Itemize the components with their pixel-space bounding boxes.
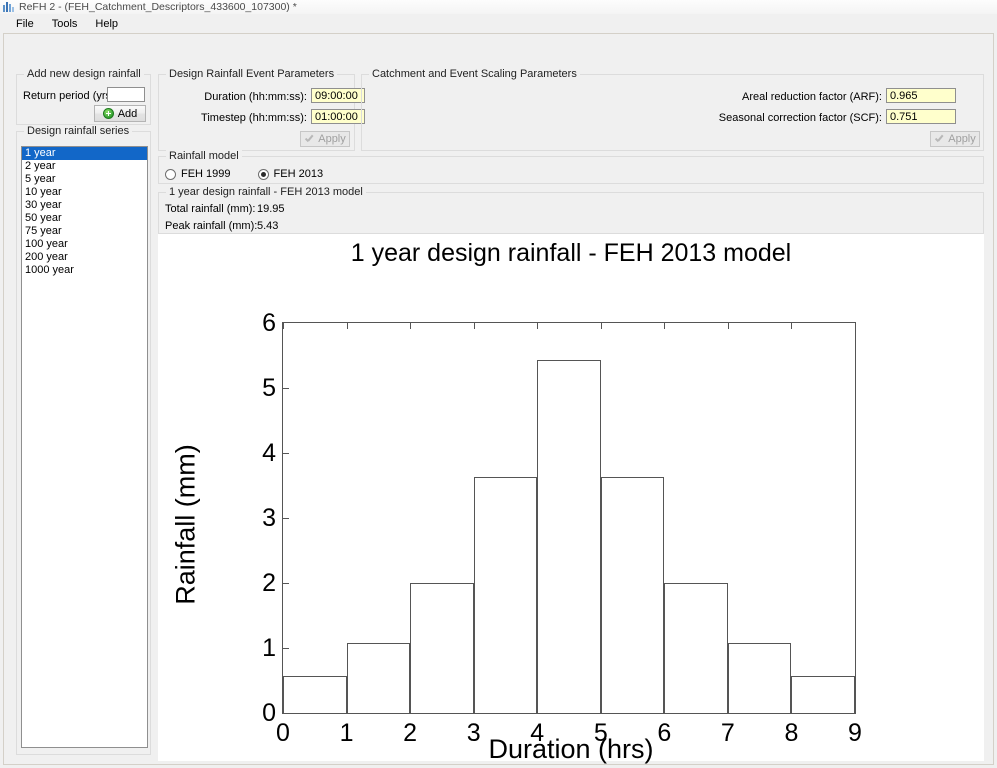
design-rainfall-series-list[interactable]: 1 year 2 year 5 year 10 year 30 year 50 …	[21, 146, 148, 748]
timestep-label: Timestep (hh:mm:ss):	[165, 112, 307, 124]
design-rainfall-series-group: Design rainfall series 1 year 2 year 5 y…	[16, 131, 151, 755]
chart-x-tick-mark	[474, 323, 475, 329]
return-period-label: Return period (yrs):	[23, 90, 118, 102]
rainfall-summary-group: 1 year design rainfall - FEH 2013 model …	[158, 192, 984, 234]
chart-title: 1 year design rainfall - FEH 2013 model	[158, 239, 984, 268]
peak-rainfall-value: 5.43	[257, 220, 278, 232]
chart-x-tick-mark	[664, 323, 665, 329]
chart-y-axis-label: Rainfall (mm)	[171, 405, 202, 645]
menu-item-help[interactable]: Help	[86, 16, 127, 32]
rainfall-chart-panel: 1 year design rainfall - FEH 2013 model …	[158, 234, 984, 761]
chart-y-tick-mark	[283, 518, 289, 519]
chart-x-tick-label: 3	[467, 721, 481, 746]
menu-bar: File Tools Help	[0, 14, 997, 33]
catchment-event-scaling-parameters-group: Catchment and Event Scaling Parameters A…	[361, 74, 984, 151]
scf-input[interactable]	[886, 109, 956, 124]
check-icon	[934, 135, 945, 144]
peak-rainfall-label: Peak rainfall (mm):	[165, 220, 257, 232]
scaling-params-legend: Catchment and Event Scaling Parameters	[369, 68, 580, 80]
chart-bar	[410, 583, 474, 713]
title-bar: ReFH 2 - (FEH_Catchment_Descriptors_4336…	[0, 0, 997, 15]
chart-x-tick-label: 2	[403, 721, 417, 746]
summary-legend: 1 year design rainfall - FEH 2013 model	[166, 186, 366, 198]
add-group-legend: Add new design rainfall	[24, 68, 144, 80]
chart-x-tick-mark	[347, 323, 348, 329]
apply-scaling-params-button[interactable]: Apply	[930, 131, 980, 147]
rainfall-model-legend: Rainfall model	[166, 150, 242, 162]
design-rainfall-event-parameters-group: Design Rainfall Event Parameters Duratio…	[158, 74, 355, 151]
chart-y-tick-mark	[283, 583, 289, 584]
list-item[interactable]: 10 year	[22, 186, 147, 199]
chart-x-tick-label: 0	[276, 721, 290, 746]
chart-x-tick-mark	[855, 323, 856, 329]
duration-label: Duration (hh:mm:ss):	[165, 91, 307, 103]
arf-label: Areal reduction factor (ARF):	[722, 91, 882, 103]
menu-item-tools[interactable]: Tools	[43, 16, 87, 32]
window-title: ReFH 2 - (FEH_Catchment_Descriptors_4336…	[19, 1, 297, 13]
scf-label: Seasonal correction factor (SCF):	[692, 112, 882, 124]
chart-bar	[791, 676, 855, 713]
event-params-legend: Design Rainfall Event Parameters	[166, 68, 337, 80]
plus-icon	[103, 108, 114, 119]
radio-feh-2013[interactable]	[258, 169, 269, 180]
chart-bar	[728, 643, 792, 713]
client-area: Add new design rainfall Return period (y…	[3, 33, 994, 765]
chart-x-tick-label: 9	[848, 721, 862, 746]
chart-x-tick-label: 1	[340, 721, 354, 746]
apply-button-label: Apply	[948, 133, 976, 145]
menu-item-file[interactable]: File	[7, 16, 43, 32]
chart-y-tick-mark	[283, 648, 289, 649]
apply-button-label: Apply	[318, 133, 346, 145]
list-item[interactable]: 75 year	[22, 225, 147, 238]
radio-feh-1999[interactable]	[165, 169, 176, 180]
add-button-label: Add	[118, 108, 138, 120]
apply-event-params-button[interactable]: Apply	[300, 131, 350, 147]
chart-bar	[537, 360, 601, 713]
chart-x-tick-mark	[791, 323, 792, 329]
check-icon	[304, 135, 315, 144]
add-new-design-rainfall-group: Add new design rainfall Return period (y…	[16, 74, 151, 125]
list-item[interactable]: 200 year	[22, 251, 147, 264]
chart-y-tick-mark	[283, 453, 289, 454]
arf-input[interactable]	[886, 88, 956, 103]
return-period-input[interactable]	[107, 87, 145, 102]
radio-feh-1999-label: FEH 1999	[181, 168, 231, 180]
total-rainfall-value: 19.95	[257, 203, 285, 215]
chart-bar	[347, 643, 411, 713]
chart-x-tick-label: 8	[784, 721, 798, 746]
duration-input[interactable]	[311, 88, 365, 103]
chart-y-tick-mark	[283, 388, 289, 389]
chart-x-tick-label: 7	[721, 721, 735, 746]
list-item[interactable]: 2 year	[22, 160, 147, 173]
app-window: ReFH 2 - (FEH_Catchment_Descriptors_4336…	[0, 0, 997, 768]
rainfall-model-options: FEH 1999 FEH 2013	[165, 168, 350, 180]
chart-x-tick-label: 5	[594, 721, 608, 746]
list-item[interactable]: 30 year	[22, 199, 147, 212]
add-button[interactable]: Add	[94, 105, 146, 122]
chart-x-tick-label: 4	[530, 721, 544, 746]
chart-x-tick-mark	[601, 323, 602, 329]
chart-bar	[601, 477, 665, 713]
list-item[interactable]: 1 year	[22, 147, 147, 160]
timestep-input[interactable]	[311, 109, 365, 124]
chart-plot-area: 01234560123456789	[282, 322, 856, 714]
chart-x-tick-label: 6	[657, 721, 671, 746]
chart-x-tick-mark	[728, 323, 729, 329]
rainfall-model-group: Rainfall model FEH 1999 FEH 2013	[158, 156, 984, 184]
list-item[interactable]: 1000 year	[22, 264, 147, 277]
chart-x-tick-mark	[410, 323, 411, 329]
chart-x-tick-mark	[537, 323, 538, 329]
list-item[interactable]: 5 year	[22, 173, 147, 186]
total-rainfall-label: Total rainfall (mm):	[165, 203, 255, 215]
chart-bar	[283, 676, 347, 713]
app-icon	[3, 2, 14, 12]
chart-bar	[474, 477, 538, 713]
chart-bar	[664, 583, 728, 713]
list-item[interactable]: 100 year	[22, 238, 147, 251]
list-item[interactable]: 50 year	[22, 212, 147, 225]
chart-x-tick-mark	[283, 323, 284, 329]
radio-feh-2013-label: FEH 2013	[274, 168, 324, 180]
series-group-legend: Design rainfall series	[24, 125, 132, 137]
